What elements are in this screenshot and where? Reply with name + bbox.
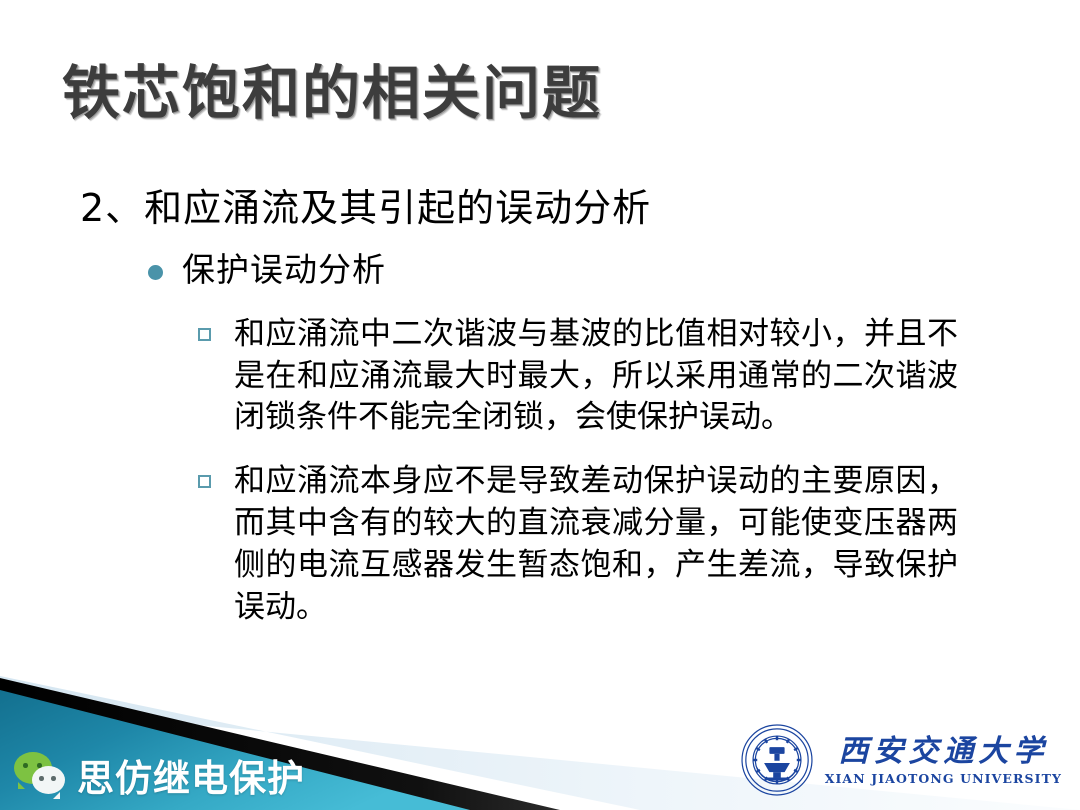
- xjtu-seal-icon: [739, 722, 815, 798]
- university-logo: 西安交通大学 XIAN JIAOTONG UNIVERSITY: [739, 722, 1062, 798]
- outline-level2-label: 保护误动分析: [182, 250, 386, 289]
- presentation-slide: 铁芯饱和的相关问题 2、和应涌流及其引起的误动分析 保护误动分析 和应涌流中二次…: [0, 0, 1080, 810]
- watermark-label: 思仿继电保护: [77, 748, 305, 802]
- outline-level2-item: 保护误动分析: [148, 249, 1010, 290]
- hollow-square-bullet-icon: [198, 328, 211, 341]
- outline-level1-text: 2、和应涌流及其引起的误动分析: [80, 185, 1010, 233]
- slide-body: 2、和应涌流及其引起的误动分析 保护误动分析 和应涌流中二次谐波与基波的比值相对…: [0, 185, 1010, 651]
- wechat-eye: [23, 763, 28, 768]
- page-title: 铁芯饱和的相关问题: [62, 46, 602, 130]
- list-item: 和应涌流本身应不是导致差动保护误动的主要原因，而其中含有的较大的直流衰减分量，可…: [198, 461, 958, 628]
- list-item: 和应涌流中二次谐波与基波的比值相对较小，并且不是在和应涌流最大时最大，所以采用通…: [198, 314, 958, 440]
- wechat-logo-icon: [14, 752, 68, 798]
- list-item-text: 和应涌流本身应不是导致差动保护误动的主要原因，而其中含有的较大的直流衰减分量，可…: [234, 463, 958, 625]
- university-name-block: 西安交通大学 XIAN JIAOTONG UNIVERSITY: [825, 735, 1062, 786]
- wechat-front-bubble: [32, 766, 65, 794]
- university-name-cn: 西安交通大学: [838, 735, 1048, 768]
- university-name-en: XIAN JIAOTONG UNIVERSITY: [825, 771, 1062, 786]
- list-item-text: 和应涌流中二次谐波与基波的比值相对较小，并且不是在和应涌流最大时最大，所以采用通…: [234, 316, 958, 436]
- outline-level3-list: 和应涌流中二次谐波与基波的比值相对较小，并且不是在和应涌流最大时最大，所以采用通…: [0, 314, 1010, 629]
- wechat-eye: [51, 776, 56, 781]
- wechat-eye: [39, 776, 44, 781]
- wechat-watermark: 思仿继电保护: [14, 748, 305, 802]
- filled-circle-bullet-icon: [148, 265, 163, 280]
- hollow-square-bullet-icon: [198, 475, 211, 488]
